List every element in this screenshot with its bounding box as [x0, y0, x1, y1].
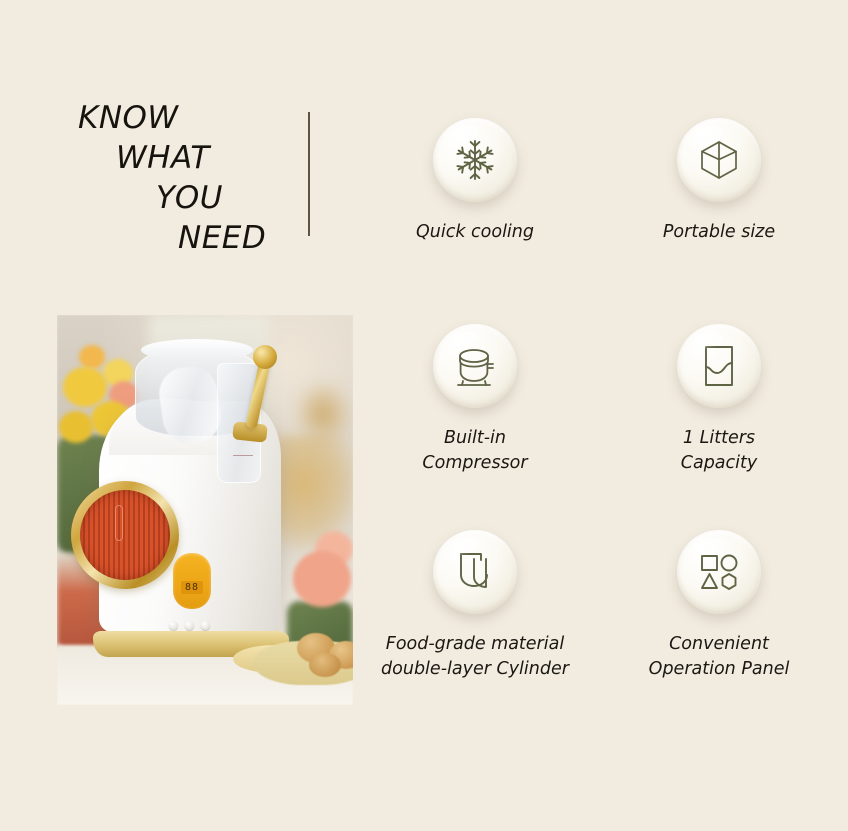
product-photo: 88: [57, 315, 353, 705]
machine-hopper-lid: [141, 339, 253, 361]
photo-flower-right-1: [293, 551, 351, 607]
feature-food-grade-material: Food-grade material double-layer Cylinde…: [366, 530, 584, 736]
cube-icon: [677, 118, 761, 202]
feature-row-2: Built-in Compressor 1 Litters Capacity: [366, 324, 828, 530]
machine-button-3: [201, 621, 210, 630]
feature-capacity: 1 Litters Capacity: [610, 324, 828, 530]
feature-portable-size: Portable size: [610, 118, 828, 324]
feature-quick-cooling: Quick cooling: [366, 118, 584, 324]
compressor-icon: [433, 324, 517, 408]
photo-flower-yellow-1: [63, 367, 107, 407]
infographic-page: KNOW WHAT YOU NEED: [0, 0, 848, 831]
machine-grille-slot: [115, 505, 123, 541]
machine-grille: [80, 490, 170, 580]
photo-flower-yellow-3: [59, 411, 93, 443]
headline-line-2: WHAT: [78, 138, 293, 178]
photo-cookie-3: [309, 653, 341, 677]
machine-tap-knob: [253, 345, 277, 369]
photo-flower-peach-3: [79, 345, 105, 369]
feature-operation-panel: Convenient Operation Panel: [610, 530, 828, 736]
machine-button-2: [185, 621, 194, 630]
feature-label-food-grade-material: Food-grade material double-layer Cylinde…: [381, 632, 569, 682]
machine-button-1: [169, 621, 178, 630]
headline-divider: [308, 112, 310, 236]
feature-built-in-compressor: Built-in Compressor: [366, 324, 584, 530]
feature-label-capacity: 1 Litters Capacity: [681, 426, 757, 476]
page-title: KNOW WHAT YOU NEED: [78, 98, 293, 258]
snowflake-icon: [433, 118, 517, 202]
feature-grid: Quick cooling Portable size: [366, 118, 828, 738]
feature-label-built-in-compressor: Built-in Compressor: [422, 426, 527, 476]
feature-row-3: Food-grade material double-layer Cylinde…: [366, 530, 828, 736]
shapes-panel-icon: [677, 530, 761, 614]
feature-row-1: Quick cooling Portable size: [366, 118, 828, 324]
feature-label-portable-size: Portable size: [663, 220, 775, 245]
feature-label-quick-cooling: Quick cooling: [416, 220, 534, 245]
headline-line-4: NEED: [78, 218, 293, 258]
machine-chute-marker: [233, 455, 253, 456]
headline-line-3: YOU: [78, 178, 293, 218]
machine-display-digits: 88: [181, 581, 203, 594]
feature-label-operation-panel: Convenient Operation Panel: [649, 632, 790, 682]
headline-line-1: KNOW: [78, 98, 293, 138]
liquid-level-icon: [677, 324, 761, 408]
double-cylinder-icon: [433, 530, 517, 614]
